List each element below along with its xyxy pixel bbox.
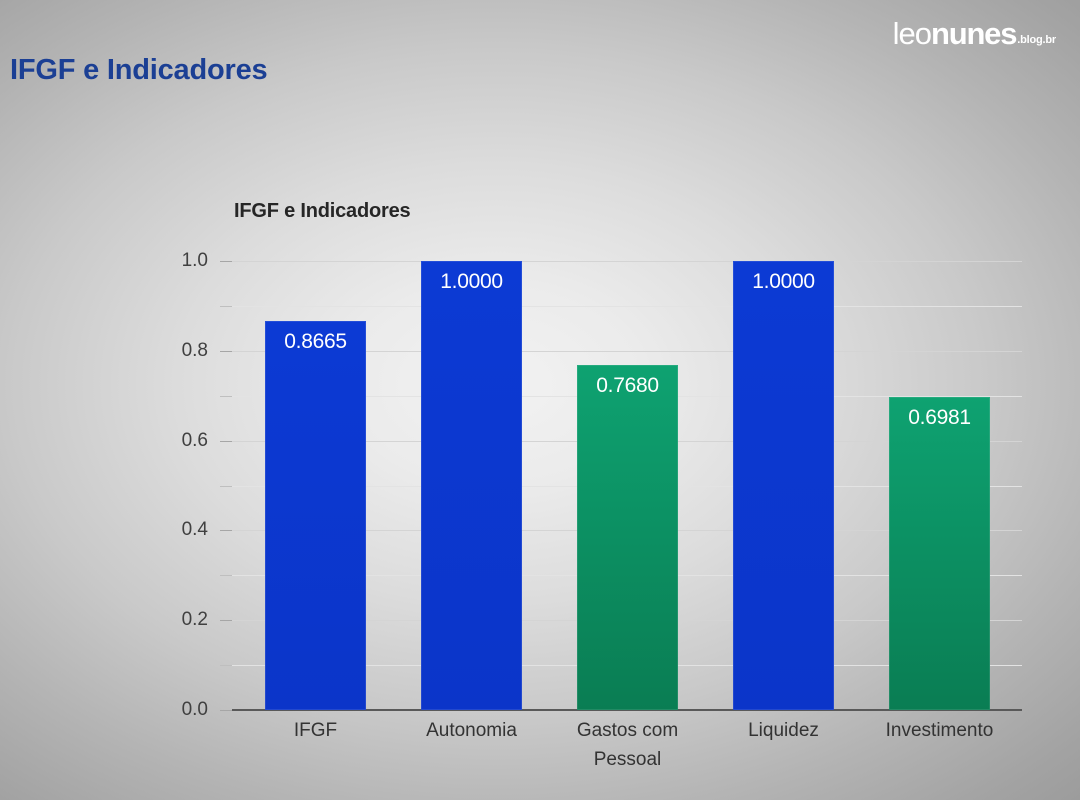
x-axis-label-line: Pessoal xyxy=(550,745,706,774)
x-axis-label-line: Investimento xyxy=(862,716,1018,745)
plot-area: 0.86651.00000.76801.00000.6981 xyxy=(232,261,1022,710)
y-tick-minor xyxy=(220,665,232,666)
y-tick-major xyxy=(220,261,232,262)
x-axis-tick-label: Gastos comPessoal xyxy=(550,716,706,774)
y-tick-major xyxy=(220,530,232,531)
bar-ifgf: 0.8665 xyxy=(265,321,366,710)
bar-chart: IFGF e Indicadores 0.00.20.40.60.81.0 0.… xyxy=(0,0,1080,800)
y-tick-major xyxy=(220,620,232,621)
bar-value-label: 0.7680 xyxy=(577,374,678,398)
chart-title: IFGF e Indicadores xyxy=(234,200,410,223)
y-tick-major xyxy=(220,441,232,442)
y-axis-labels: 0.00.20.40.60.81.0 xyxy=(0,261,222,710)
y-tick-minor xyxy=(220,306,232,307)
y-tick-major xyxy=(220,710,232,711)
y-axis-tick-label: 0.2 xyxy=(182,609,208,631)
bar-investimento: 0.6981 xyxy=(889,397,990,710)
y-axis-tick-label: 0.0 xyxy=(182,699,208,721)
bar-value-label: 1.0000 xyxy=(733,270,834,294)
x-axis-tick-label: IFGF xyxy=(238,716,394,745)
y-axis-tick-label: 0.4 xyxy=(182,519,208,541)
x-axis-labels: IFGFAutonomiaGastos comPessoalLiquidezIn… xyxy=(232,716,1022,796)
bar-value-label: 0.6981 xyxy=(889,406,990,430)
x-axis-tick-label: Autonomia xyxy=(394,716,550,745)
gridline-major xyxy=(232,261,1022,262)
y-tick-minor xyxy=(220,575,232,576)
y-axis-tick-label: 0.6 xyxy=(182,430,208,452)
bar-liquidez: 1.0000 xyxy=(733,261,834,710)
gridline-minor xyxy=(232,306,1022,307)
y-tick-major xyxy=(220,351,232,352)
bar-gastos-com-pessoal: 0.7680 xyxy=(577,365,678,710)
bar-value-label: 0.8665 xyxy=(265,330,366,354)
y-tick-minor xyxy=(220,396,232,397)
bar-autonomia: 1.0000 xyxy=(421,261,522,710)
y-axis-tick-label: 1.0 xyxy=(182,250,208,272)
x-axis-label-line: Liquidez xyxy=(706,716,862,745)
y-tick-minor xyxy=(220,486,232,487)
slide-canvas: leo nunes .blog.br IFGF e Indicadores IF… xyxy=(0,0,1080,800)
bar-value-label: 1.0000 xyxy=(421,270,522,294)
x-axis-label-line: Autonomia xyxy=(394,716,550,745)
x-axis-tick-label: Investimento xyxy=(862,716,1018,745)
x-axis-tick-label: Liquidez xyxy=(706,716,862,745)
x-axis-label-line: Gastos com xyxy=(550,716,706,745)
y-axis-tick-label: 0.8 xyxy=(182,340,208,362)
x-axis-label-line: IFGF xyxy=(238,716,394,745)
